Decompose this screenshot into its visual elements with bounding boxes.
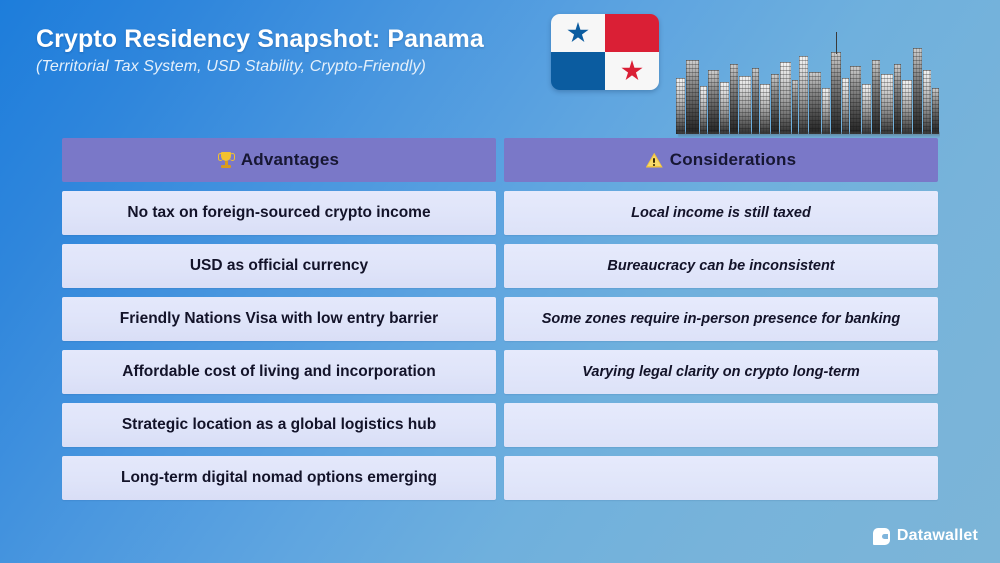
table-row: Local income is still taxed — [504, 191, 938, 235]
panama-flag-icon — [551, 14, 659, 90]
flag-quadrant-bottom-right — [605, 52, 659, 90]
table-row: No tax on foreign-sourced crypto income — [62, 191, 496, 235]
page-subtitle: (Territorial Tax System, USD Stability, … — [36, 57, 556, 78]
table-row: Some zones require in-person presence fo… — [504, 297, 938, 341]
brand-logo: Datawallet — [873, 527, 978, 545]
datawallet-logo-icon — [873, 528, 890, 545]
trophy-icon — [219, 152, 234, 168]
flag-quadrant-bottom-left — [551, 52, 605, 90]
column-header-considerations-label: Considerations — [670, 150, 797, 170]
table-row: Friendly Nations Visa with low entry bar… — [62, 297, 496, 341]
panama-city-skyline-image — [672, 18, 940, 138]
comparison-table: Advantages Considerations No tax on fore… — [62, 138, 938, 500]
warning-icon — [646, 153, 663, 168]
table-row: Bureaucracy can be inconsistent — [504, 244, 938, 288]
table-row: USD as official currency — [62, 244, 496, 288]
title-block: Crypto Residency Snapshot: Panama (Terri… — [36, 24, 556, 77]
flag-quadrant-top-right — [605, 14, 659, 52]
flag-quadrant-top-left — [551, 14, 605, 52]
table-row-empty — [504, 456, 938, 500]
page-title: Crypto Residency Snapshot: Panama — [36, 24, 556, 55]
table-row-empty — [504, 403, 938, 447]
column-header-considerations: Considerations — [504, 138, 938, 182]
column-header-advantages: Advantages — [62, 138, 496, 182]
flag-red-star-icon — [621, 60, 643, 82]
brand-name-label: Datawallet — [897, 527, 978, 545]
table-row: Affordable cost of living and incorporat… — [62, 350, 496, 394]
flag-blue-star-icon — [567, 22, 589, 44]
table-row: Long-term digital nomad options emerging — [62, 456, 496, 500]
table-row: Varying legal clarity on crypto long-ter… — [504, 350, 938, 394]
table-row: Strategic location as a global logistics… — [62, 403, 496, 447]
column-header-advantages-label: Advantages — [241, 150, 339, 170]
slide-canvas: Crypto Residency Snapshot: Panama (Terri… — [0, 0, 1000, 563]
